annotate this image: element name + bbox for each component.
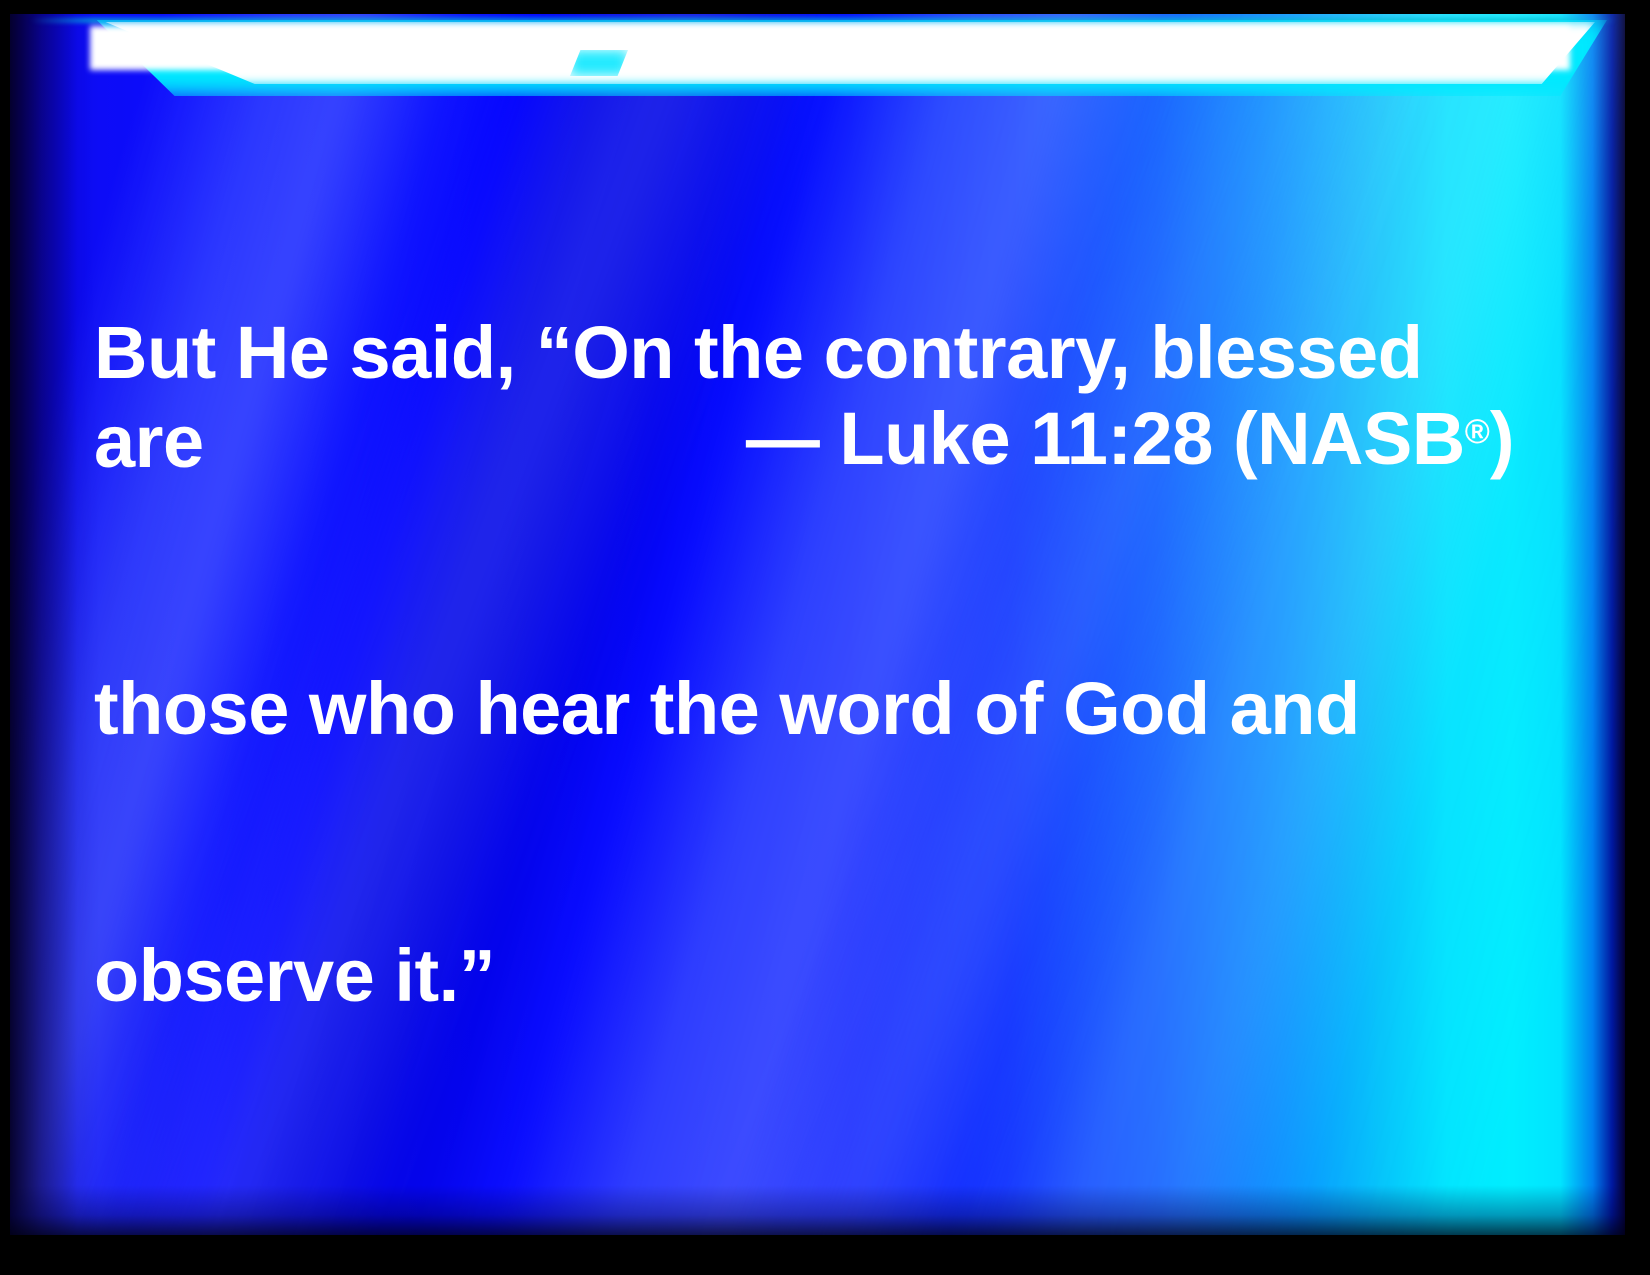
attribution-spacer-3: [1213, 397, 1233, 480]
scripture-slide: But He said, “On the contrary, blessed a…: [0, 0, 1650, 1275]
background-left-shadow: [10, 14, 100, 1235]
attribution-translation-close: ): [1490, 397, 1514, 480]
attribution-translation-open: (NASB: [1233, 397, 1465, 480]
attribution-spacer-1: [819, 397, 839, 480]
top-light-band: [10, 14, 1625, 102]
verse-text: But He said, “On the contrary, blessed a…: [94, 130, 1514, 1198]
slide-background: But He said, “On the contrary, blessed a…: [10, 14, 1625, 1235]
attribution-dash: —: [746, 397, 820, 480]
attribution-book: Luke: [839, 397, 1010, 480]
verse-line-3: observe it.”: [94, 931, 1514, 1020]
attribution-reference: 11:28: [1030, 397, 1213, 480]
attribution-spacer-2: [1010, 397, 1030, 480]
registered-trademark-icon: ®: [1465, 413, 1490, 451]
top-band-white-highlight: [90, 26, 1570, 70]
verse-line-2: those who hear the word of God and: [94, 664, 1514, 753]
verse-attribution: — Luke 11:28 (NASB®): [94, 386, 1514, 485]
